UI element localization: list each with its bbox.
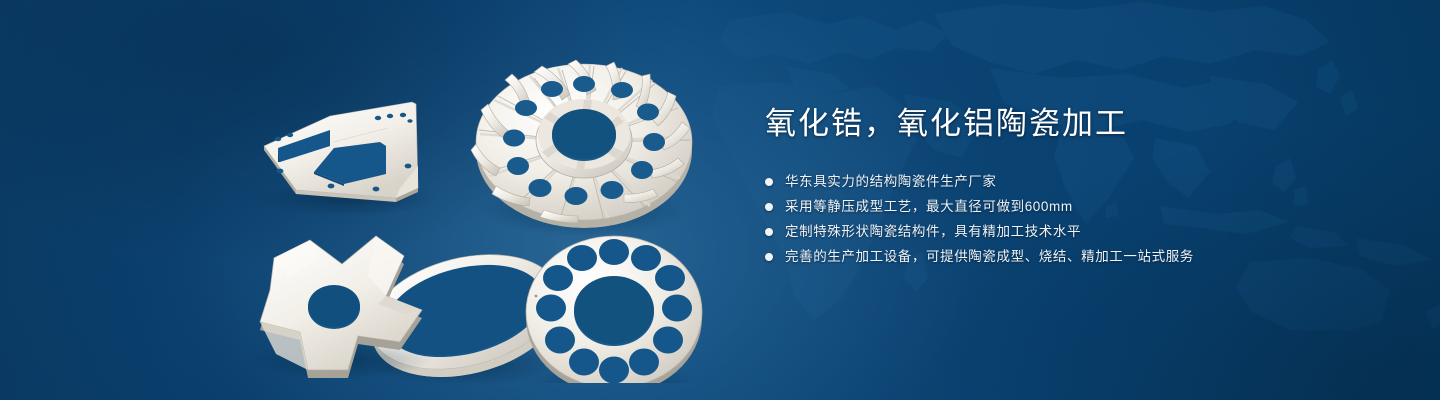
bullet-dot-icon (765, 253, 773, 261)
bullet-dot-icon (765, 178, 773, 186)
ceramic-products-image (230, 38, 720, 383)
list-item: 华东具实力的结构陶瓷件生产厂家 (765, 171, 1385, 192)
ceramic-processing-banner: 氧化锆，氧化铝陶瓷加工 华东具实力的结构陶瓷件生产厂家 采用等静压成型工艺，最大… (0, 0, 1440, 400)
list-item-label: 华东具实力的结构陶瓷件生产厂家 (785, 171, 997, 192)
list-item-label: 采用等静压成型工艺，最大直径可做到600mm (785, 196, 1073, 217)
list-item-label: 完善的生产加工设备，可提供陶瓷成型、烧结、精加工一站式服务 (785, 246, 1194, 267)
list-item: 采用等静压成型工艺，最大直径可做到600mm (765, 196, 1385, 217)
banner-text-block: 氧化锆，氧化铝陶瓷加工 华东具实力的结构陶瓷件生产厂家 采用等静压成型工艺，最大… (765, 104, 1385, 271)
ceramic-impeller-part (471, 60, 692, 236)
feature-list: 华东具实力的结构陶瓷件生产厂家 采用等静压成型工艺，最大直径可做到600mm 定… (765, 171, 1385, 267)
ceramic-cross-plate-part (248, 236, 432, 380)
list-item: 定制特殊形状陶瓷结构件，具有精加工技术水平 (765, 221, 1385, 242)
list-item-label: 定制特殊形状陶瓷结构件，具有精加工技术水平 (785, 221, 1081, 242)
bullet-dot-icon (765, 203, 773, 211)
ceramic-holed-disc-part (526, 236, 702, 383)
ceramic-plate-part (258, 102, 438, 216)
page-title: 氧化锆，氧化铝陶瓷加工 (765, 104, 1385, 144)
bullet-dot-icon (765, 228, 773, 236)
list-item: 完善的生产加工设备，可提供陶瓷成型、烧结、精加工一站式服务 (765, 246, 1385, 267)
